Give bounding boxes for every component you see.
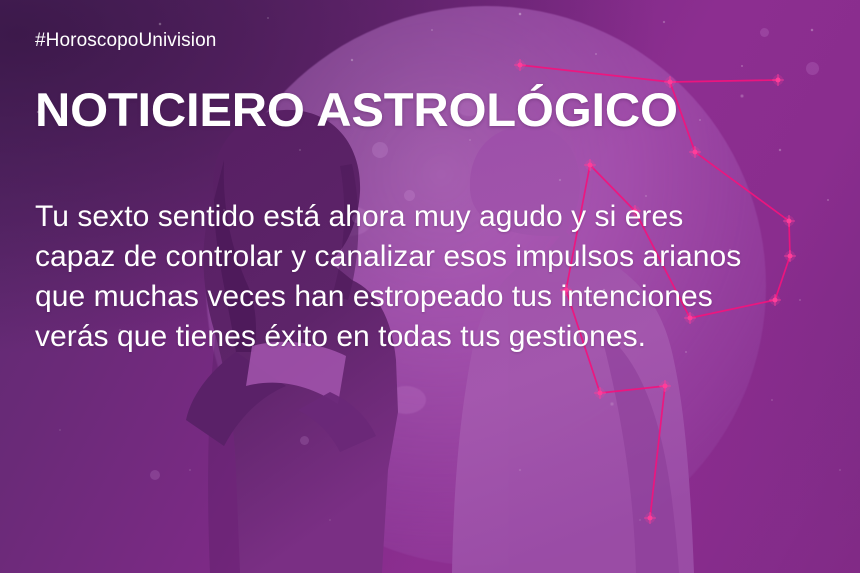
card-content: #HoroscopoUnivision NOTICIERO ASTROLÓGIC… bbox=[35, 0, 825, 573]
body-line: verás que tienes éxito en todas tus gest… bbox=[35, 320, 646, 353]
body-line: capaz de controlar y canalizar esos impu… bbox=[35, 240, 741, 273]
horoscope-body-text: Tu sexto sentido está ahora muy agudo y … bbox=[35, 197, 815, 357]
page-title: NOTICIERO ASTROLÓGICO bbox=[35, 84, 678, 136]
hashtag-label: #HoroscopoUnivision bbox=[35, 30, 216, 52]
body-line: que muchas veces han estropeado tus inte… bbox=[35, 280, 713, 313]
horoscope-card: #HoroscopoUnivision NOTICIERO ASTROLÓGIC… bbox=[0, 0, 860, 573]
body-line: Tu sexto sentido está ahora muy agudo y … bbox=[35, 200, 683, 233]
